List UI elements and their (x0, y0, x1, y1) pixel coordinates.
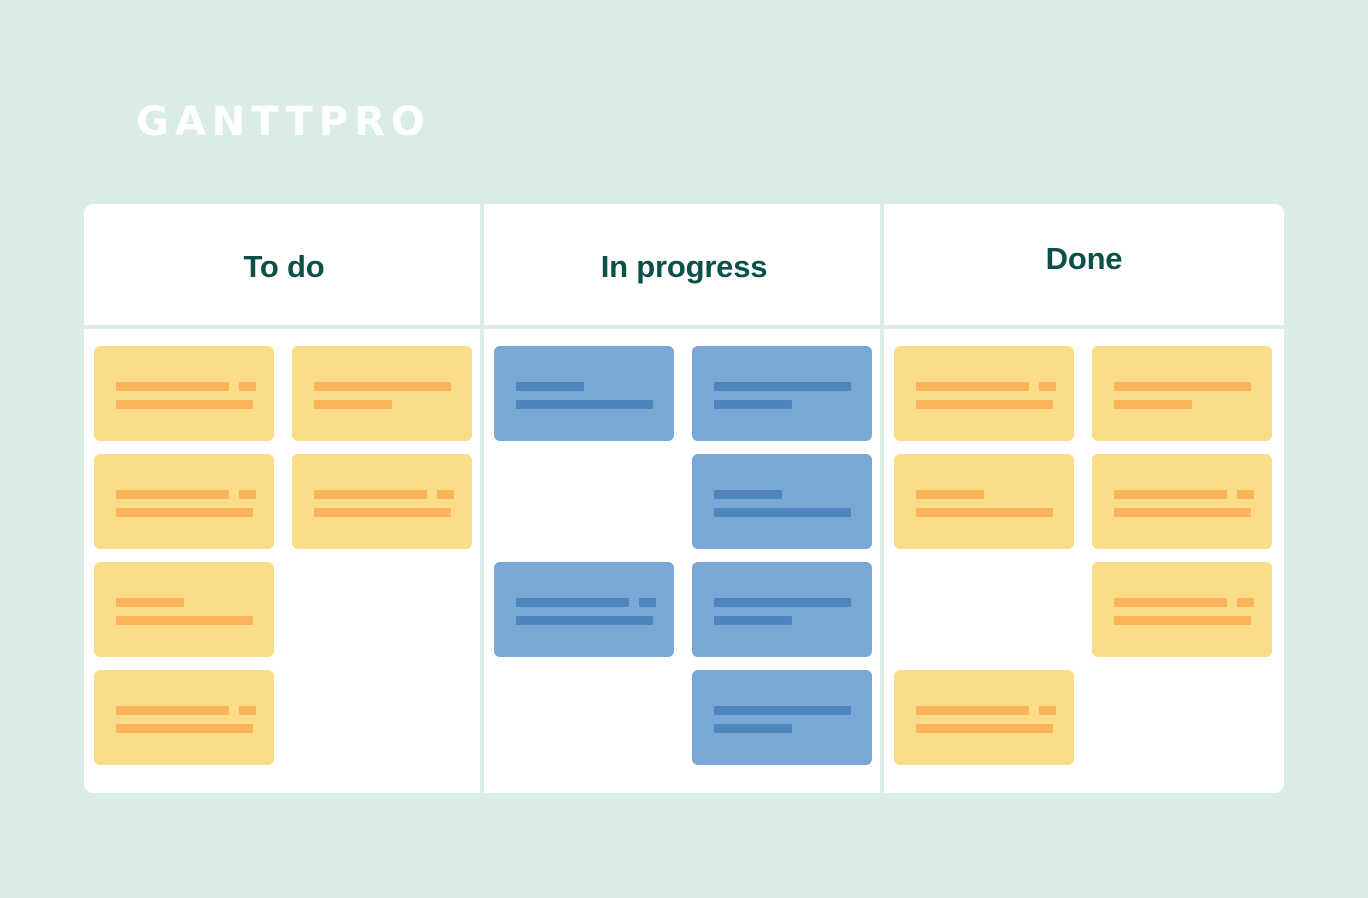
card-slot (1092, 454, 1273, 562)
task-tag-bar (1039, 382, 1056, 391)
column-cards-in-progress (484, 329, 884, 793)
task-card-placeholder-lines (116, 706, 260, 733)
task-title-bar (314, 382, 451, 391)
task-card[interactable] (692, 670, 872, 765)
task-tag-bar (239, 706, 256, 715)
task-card[interactable] (94, 670, 274, 765)
task-card[interactable] (1092, 562, 1272, 657)
kanban-column-done: Done (884, 204, 1284, 793)
task-card[interactable] (692, 454, 872, 549)
task-title-bar (116, 598, 184, 607)
task-title-line (714, 706, 858, 715)
task-title-bar (916, 490, 984, 499)
task-subtitle-line (714, 400, 858, 409)
card-slot (692, 346, 873, 454)
card-slot (894, 562, 1075, 670)
task-subtitle-line (314, 400, 458, 409)
task-subtitle-bar (516, 400, 653, 409)
task-card-placeholder-lines (916, 490, 1060, 517)
task-tag-bar (437, 490, 454, 499)
task-subtitle-line (516, 616, 660, 625)
task-subtitle-bar (1114, 400, 1192, 409)
card-slot (494, 454, 675, 562)
task-title-line (916, 706, 1060, 715)
task-card[interactable] (494, 346, 674, 441)
card-slot (1092, 670, 1273, 778)
task-card-placeholder-lines (714, 490, 858, 517)
task-subtitle-line (116, 616, 260, 625)
task-tag-bar (239, 490, 256, 499)
task-title-bar (714, 598, 851, 607)
task-title-line (714, 598, 858, 607)
task-title-bar (714, 382, 851, 391)
task-subtitle-bar (116, 724, 253, 733)
task-card-placeholder-lines (714, 706, 858, 733)
task-card-placeholder-lines (714, 382, 858, 409)
task-tag-bar (1237, 598, 1254, 607)
task-card[interactable] (94, 454, 274, 549)
task-card-placeholder-lines (1114, 598, 1258, 625)
task-card-placeholder-lines (116, 382, 260, 409)
card-slot (692, 562, 873, 670)
task-card[interactable] (692, 346, 872, 441)
task-subtitle-line (516, 400, 660, 409)
task-title-line (116, 382, 260, 391)
task-subtitle-bar (314, 508, 451, 517)
task-title-line (1114, 382, 1258, 391)
task-title-bar (314, 490, 427, 499)
task-card[interactable] (94, 562, 274, 657)
column-header-todo[interactable]: To do (84, 204, 484, 329)
task-title-line (714, 382, 858, 391)
task-title-bar (516, 382, 584, 391)
task-subtitle-bar (116, 616, 253, 625)
task-card-placeholder-lines (314, 382, 458, 409)
task-subtitle-line (916, 724, 1060, 733)
task-card[interactable] (292, 346, 472, 441)
task-title-bar (116, 706, 229, 715)
task-card[interactable] (894, 346, 1074, 441)
task-card-placeholder-lines (516, 598, 660, 625)
card-slot (494, 670, 675, 778)
card-slot (894, 346, 1075, 454)
task-card-placeholder-lines (116, 490, 260, 517)
task-title-bar (916, 382, 1029, 391)
task-subtitle-bar (916, 724, 1053, 733)
column-header-in-progress[interactable]: In progress (484, 204, 884, 329)
card-slot (292, 670, 473, 778)
task-subtitle-bar (714, 400, 792, 409)
card-slot (494, 562, 675, 670)
task-title-line (916, 490, 1060, 499)
task-title-line (314, 382, 458, 391)
card-slot (292, 454, 473, 562)
column-title-todo: To do (243, 249, 324, 285)
task-title-bar (516, 598, 629, 607)
card-slot (692, 670, 873, 778)
task-title-line (116, 706, 260, 715)
task-subtitle-line (116, 400, 260, 409)
task-subtitle-bar (714, 724, 792, 733)
kanban-column-todo: To do (84, 204, 484, 793)
card-slot (292, 346, 473, 454)
task-subtitle-line (916, 400, 1060, 409)
card-slot (94, 346, 275, 454)
card-slot (1092, 346, 1273, 454)
kanban-column-in-progress: In progress (484, 204, 884, 793)
task-subtitle-line (1114, 616, 1258, 625)
task-subtitle-bar (714, 616, 792, 625)
column-header-done[interactable]: Done (884, 204, 1284, 329)
card-slot (94, 562, 275, 670)
task-card-placeholder-lines (714, 598, 858, 625)
task-title-line (516, 382, 660, 391)
task-card[interactable] (894, 454, 1074, 549)
card-slot (1092, 562, 1273, 670)
card-slot (894, 670, 1075, 778)
app-logo: GANTTPRO (136, 100, 431, 144)
task-tag-bar (639, 598, 656, 607)
task-subtitle-bar (116, 400, 253, 409)
task-subtitle-line (1114, 508, 1258, 517)
task-card[interactable] (94, 346, 274, 441)
task-title-bar (116, 382, 229, 391)
column-title-done: Done (1046, 241, 1123, 277)
card-slot (94, 454, 275, 562)
task-subtitle-line (916, 508, 1060, 517)
task-card[interactable] (692, 562, 872, 657)
task-title-line (916, 382, 1060, 391)
task-title-bar (116, 490, 229, 499)
task-subtitle-bar (516, 616, 653, 625)
task-title-bar (916, 706, 1029, 715)
card-slot (94, 670, 275, 778)
task-card-placeholder-lines (916, 382, 1060, 409)
task-title-bar (714, 490, 782, 499)
task-subtitle-line (314, 508, 458, 517)
card-slot (894, 454, 1075, 562)
task-subtitle-bar (714, 508, 851, 517)
task-card-placeholder-lines (1114, 490, 1258, 517)
task-title-line (1114, 598, 1258, 607)
task-subtitle-bar (314, 400, 392, 409)
column-cards-done (884, 329, 1284, 793)
task-subtitle-bar (116, 508, 253, 517)
card-slot (494, 346, 675, 454)
task-subtitle-bar (1114, 616, 1251, 625)
task-title-bar (714, 706, 851, 715)
task-title-line (314, 490, 458, 499)
task-subtitle-bar (1114, 508, 1251, 517)
task-title-line (516, 598, 660, 607)
task-card[interactable] (292, 454, 472, 549)
task-card-placeholder-lines (1114, 382, 1258, 409)
column-cards-todo (84, 329, 484, 793)
task-title-bar (1114, 382, 1251, 391)
column-title-in-progress: In progress (601, 249, 768, 285)
task-card[interactable] (494, 562, 674, 657)
task-title-line (116, 490, 260, 499)
task-subtitle-line (714, 616, 858, 625)
task-tag-bar (1039, 706, 1056, 715)
task-title-bar (1114, 490, 1227, 499)
task-subtitle-line (116, 724, 260, 733)
task-subtitle-line (116, 508, 260, 517)
task-title-line (116, 598, 260, 607)
task-card-placeholder-lines (516, 382, 660, 409)
task-subtitle-bar (916, 508, 1053, 517)
task-card-placeholder-lines (314, 490, 458, 517)
card-slot (292, 562, 473, 670)
kanban-board: To doIn progressDone (84, 204, 1284, 793)
task-card[interactable] (1092, 454, 1272, 549)
task-card[interactable] (894, 670, 1074, 765)
task-tag-bar (1237, 490, 1254, 499)
task-title-line (1114, 490, 1258, 499)
task-subtitle-bar (916, 400, 1053, 409)
task-card[interactable] (1092, 346, 1272, 441)
task-title-line (714, 490, 858, 499)
task-subtitle-line (714, 724, 858, 733)
task-card-placeholder-lines (116, 598, 260, 625)
task-subtitle-line (1114, 400, 1258, 409)
task-card-placeholder-lines (916, 706, 1060, 733)
card-slot (692, 454, 873, 562)
task-tag-bar (239, 382, 256, 391)
task-title-bar (1114, 598, 1227, 607)
task-subtitle-line (714, 508, 858, 517)
